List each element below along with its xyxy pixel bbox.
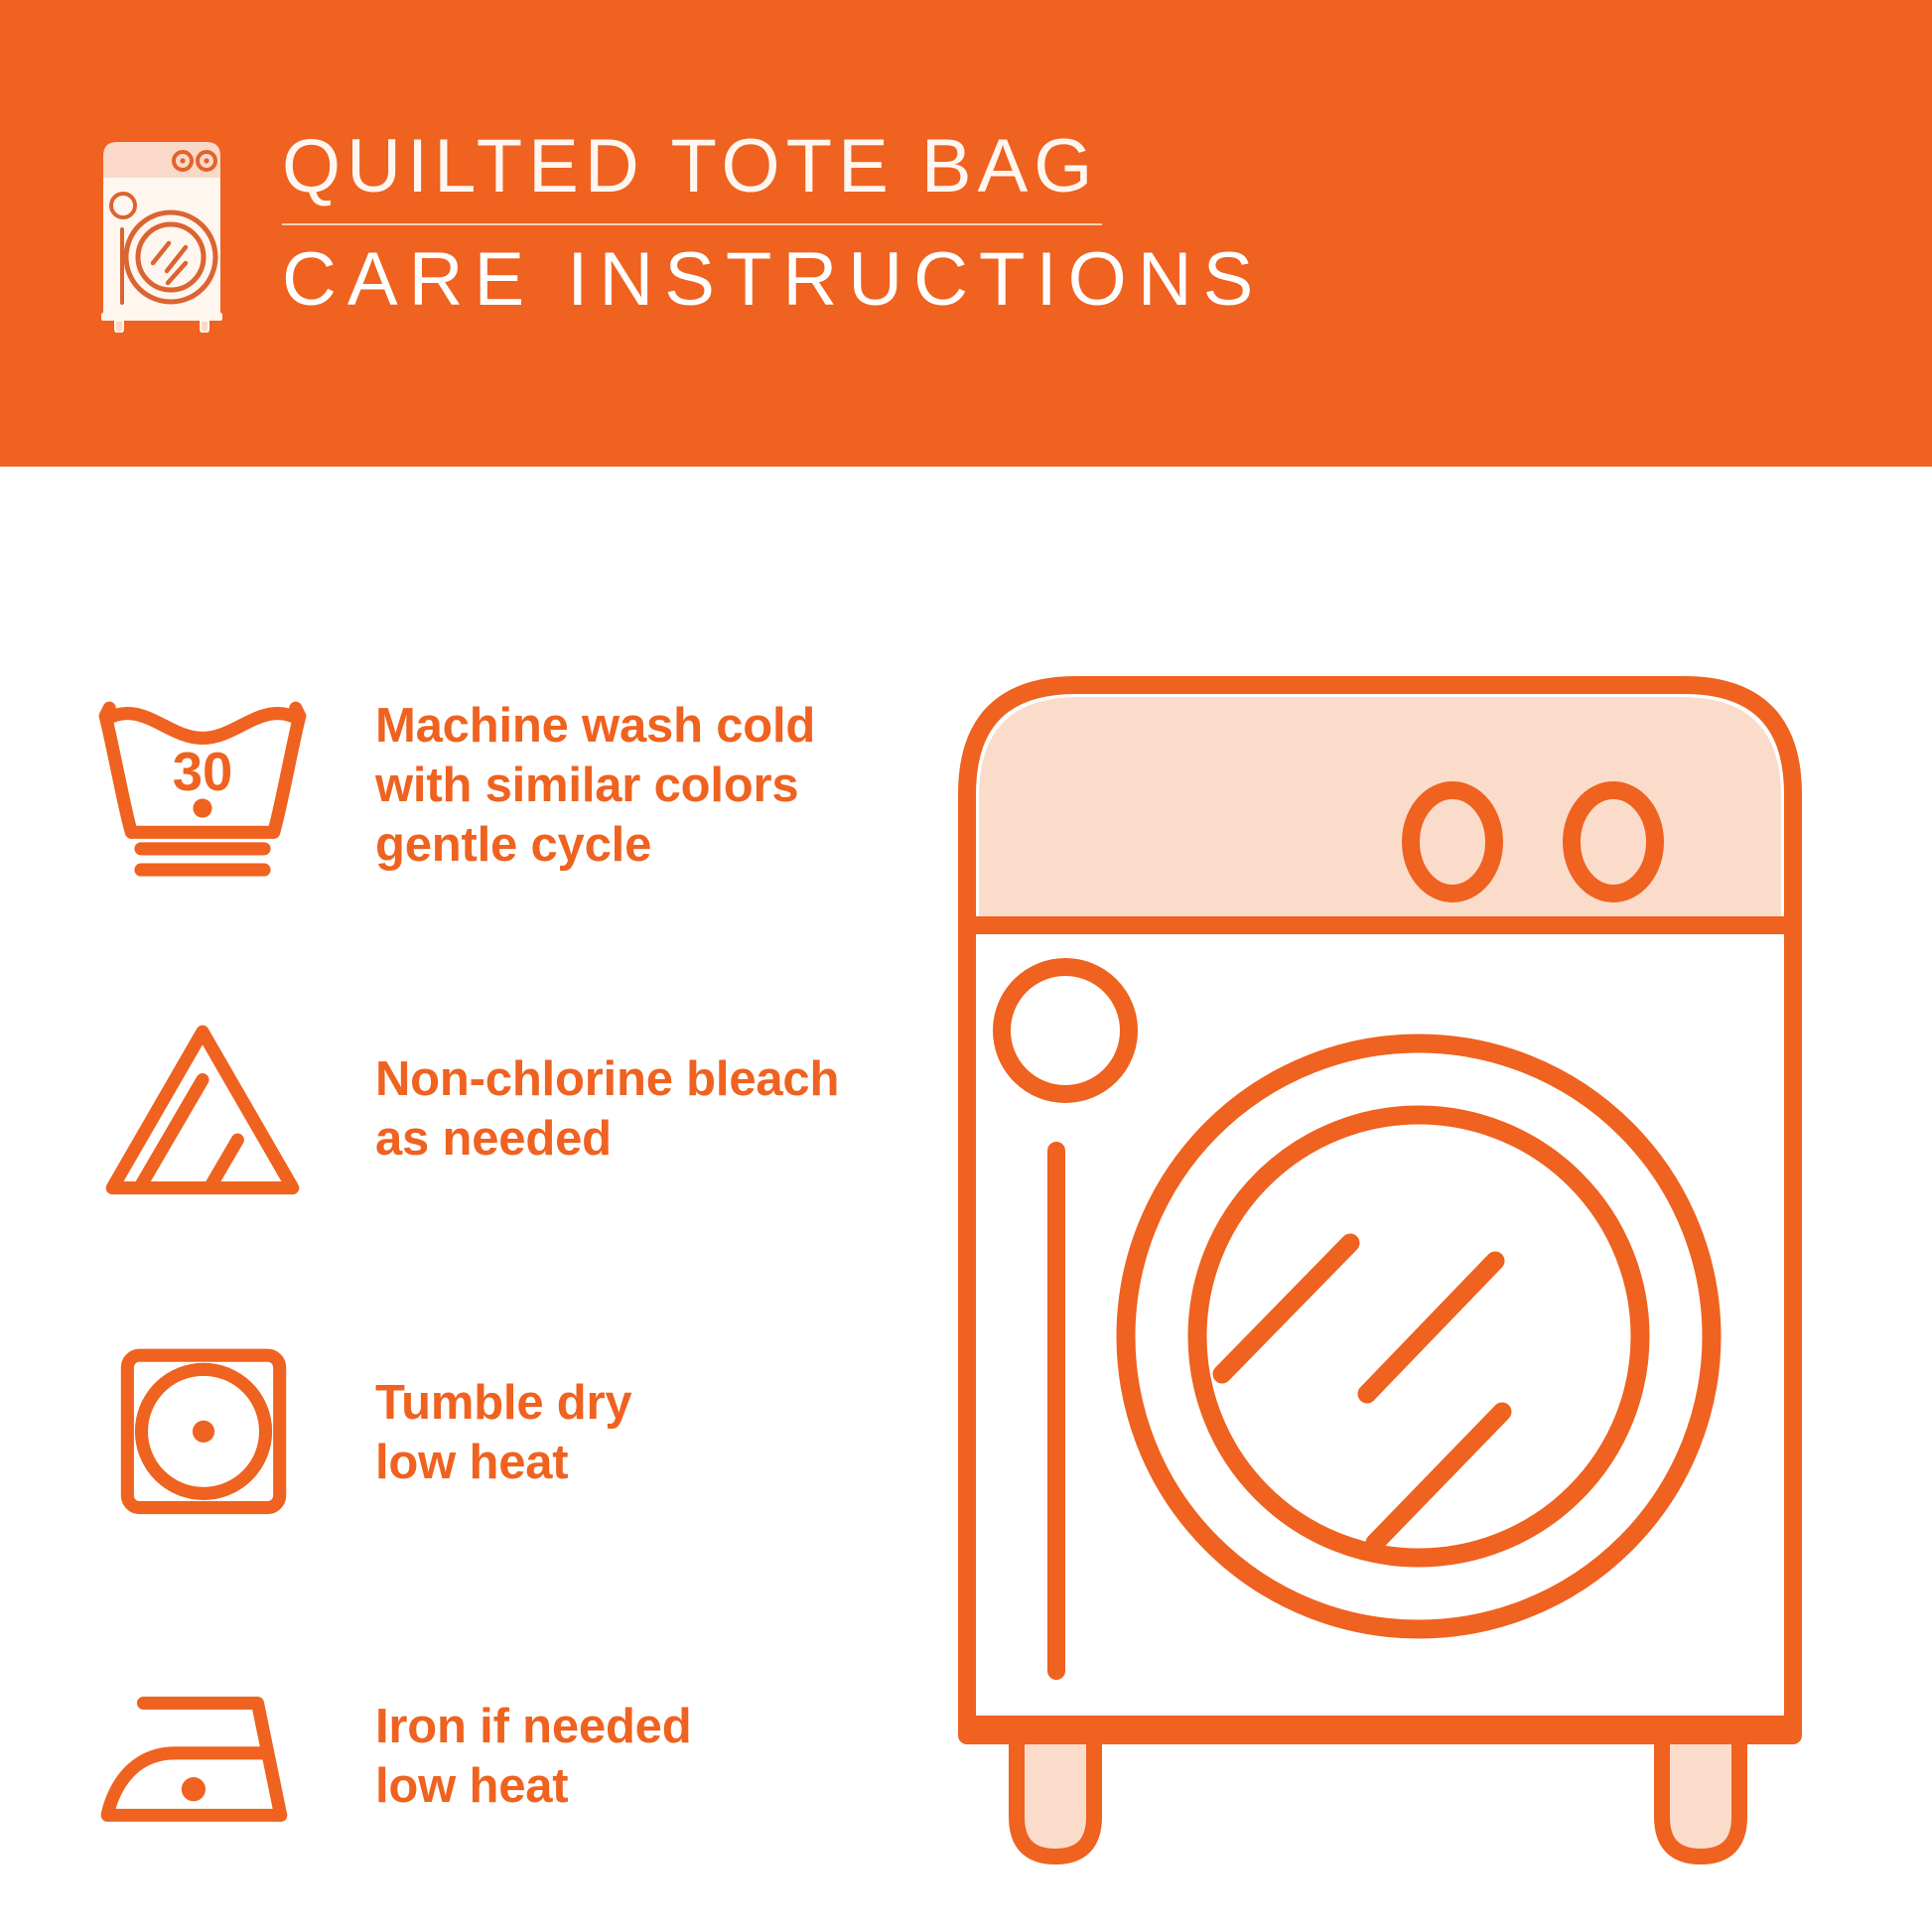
care-line: low heat bbox=[375, 1757, 691, 1817]
iron-low-heat-icon bbox=[87, 1653, 318, 1862]
tumble-dry-low-heat-icon bbox=[87, 1329, 318, 1538]
title-divider bbox=[282, 223, 1102, 225]
care-line: Tumble dry bbox=[375, 1374, 631, 1434]
care-line: as needed bbox=[375, 1110, 839, 1170]
dial-left bbox=[1411, 790, 1494, 894]
indicator-light bbox=[1002, 967, 1129, 1094]
care-row-tumble-dry: Tumble dry low heat bbox=[87, 1311, 901, 1557]
header-content: QUILTED TOTE BAG CARE INSTRUCTIONS bbox=[87, 124, 1264, 333]
wash-temp-label: 30 bbox=[173, 742, 233, 802]
care-text-iron: Iron if needed low heat bbox=[375, 1698, 691, 1817]
dial-right bbox=[1572, 790, 1655, 894]
washing-machine-illustration bbox=[953, 625, 1866, 1886]
page-title: QUILTED TOTE BAG bbox=[282, 128, 1264, 206]
header-title-group: QUILTED TOTE BAG CARE INSTRUCTIONS bbox=[282, 124, 1264, 318]
care-line: with similar colors bbox=[375, 757, 815, 816]
detergent-slot bbox=[1047, 1142, 1065, 1680]
care-row-iron: Iron if needed low heat bbox=[87, 1634, 901, 1880]
care-row-machine-wash: 30 Machine wash cold with similar colors… bbox=[87, 663, 901, 909]
care-line: Machine wash cold bbox=[375, 697, 815, 757]
care-instructions-list: 30 Machine wash cold with similar colors… bbox=[87, 663, 901, 1880]
care-line: gentle cycle bbox=[375, 816, 815, 876]
care-line: low heat bbox=[375, 1434, 631, 1493]
non-chlorine-bleach-triangle-icon bbox=[87, 1006, 318, 1214]
care-text-tumble-dry: Tumble dry low heat bbox=[375, 1374, 631, 1493]
page-subtitle: CARE INSTRUCTIONS bbox=[282, 241, 1264, 319]
page-header: QUILTED TOTE BAG CARE INSTRUCTIONS bbox=[0, 0, 1932, 467]
care-line: Non-chlorine bleach bbox=[375, 1050, 839, 1110]
care-line: Iron if needed bbox=[375, 1698, 691, 1757]
wash-tub-30-gentle-icon: 30 bbox=[87, 682, 318, 891]
care-text-machine-wash: Machine wash cold with similar colors ge… bbox=[375, 697, 815, 875]
care-row-bleach: Non-chlorine bleach as needed bbox=[87, 987, 901, 1233]
washing-machine-icon bbox=[87, 134, 246, 333]
care-text-bleach: Non-chlorine bleach as needed bbox=[375, 1050, 839, 1170]
